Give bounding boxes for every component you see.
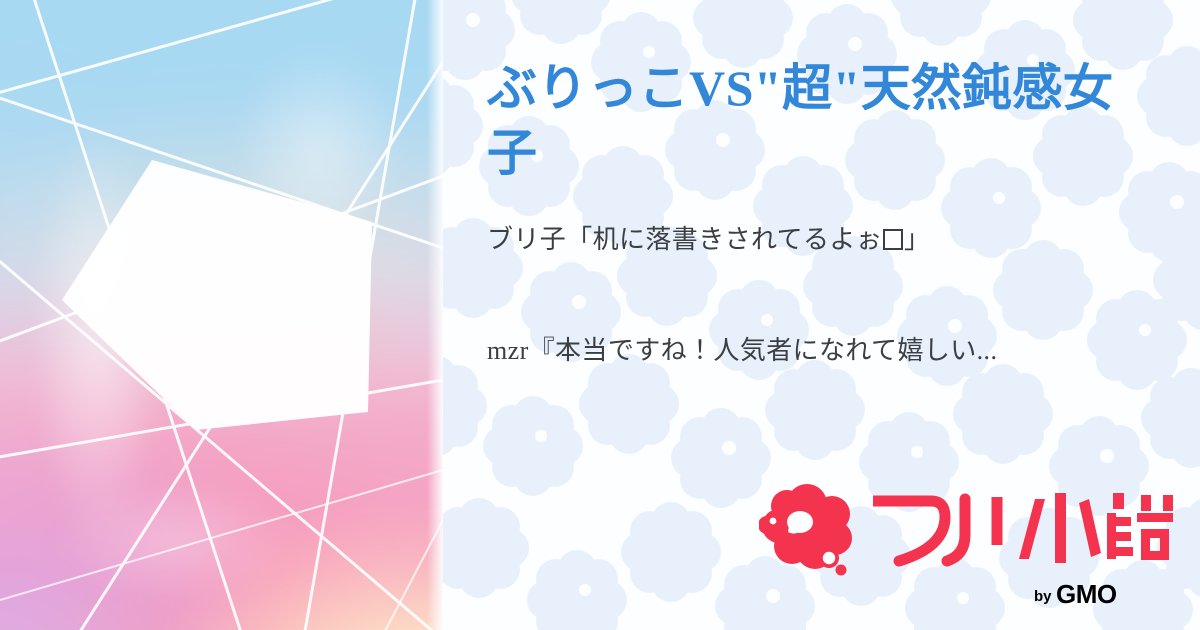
novel-title: ぶりっこVS"超"天然鈍感女子 <box>487 56 1147 186</box>
content-panel: ぶりっこVS"超"天然鈍感女子 ブリ子「机に落書きされてるよぉ」 mzr『本当で… <box>443 0 1200 630</box>
byline-small: by <box>1034 588 1052 605</box>
snippet-1-text: ブリ子「机に落書きされてるよぉ <box>487 225 882 254</box>
puri-shousetsu-logo-text <box>869 487 1174 569</box>
snippet-line-2: mzr『本当ですね！人気者になれて嬉しい... <box>487 331 1156 370</box>
snippet-line-1: ブリ子「机に落書きされてるよぉ」 <box>487 220 1156 259</box>
ogp-card: ぶりっこVS"超"天然鈍感女子 ブリ子「机に落書きされてるよぉ」 mzr『本当で… <box>0 0 1200 630</box>
novel-cover-image <box>0 0 443 630</box>
snippet-1-suffix: 」 <box>904 225 930 254</box>
cover-line-overlay <box>0 0 443 630</box>
brand-logo: by GMO <box>759 480 1174 608</box>
missing-glyph-box-icon <box>883 229 903 250</box>
snippet-2-text: mzr『本当ですね！人気者になれて嬉しい... <box>487 336 997 365</box>
by-gmo-byline: by GMO <box>1034 578 1164 608</box>
brand-logo-row <box>759 480 1174 576</box>
cover-edge-fade <box>427 0 443 630</box>
byline-main: GMO <box>1056 579 1117 608</box>
thought-bubble-icon <box>759 480 863 576</box>
snippet-list: ブリ子「机に落書きされてるよぉ」 mzr『本当ですね！人気者になれて嬉しい... <box>487 220 1156 370</box>
